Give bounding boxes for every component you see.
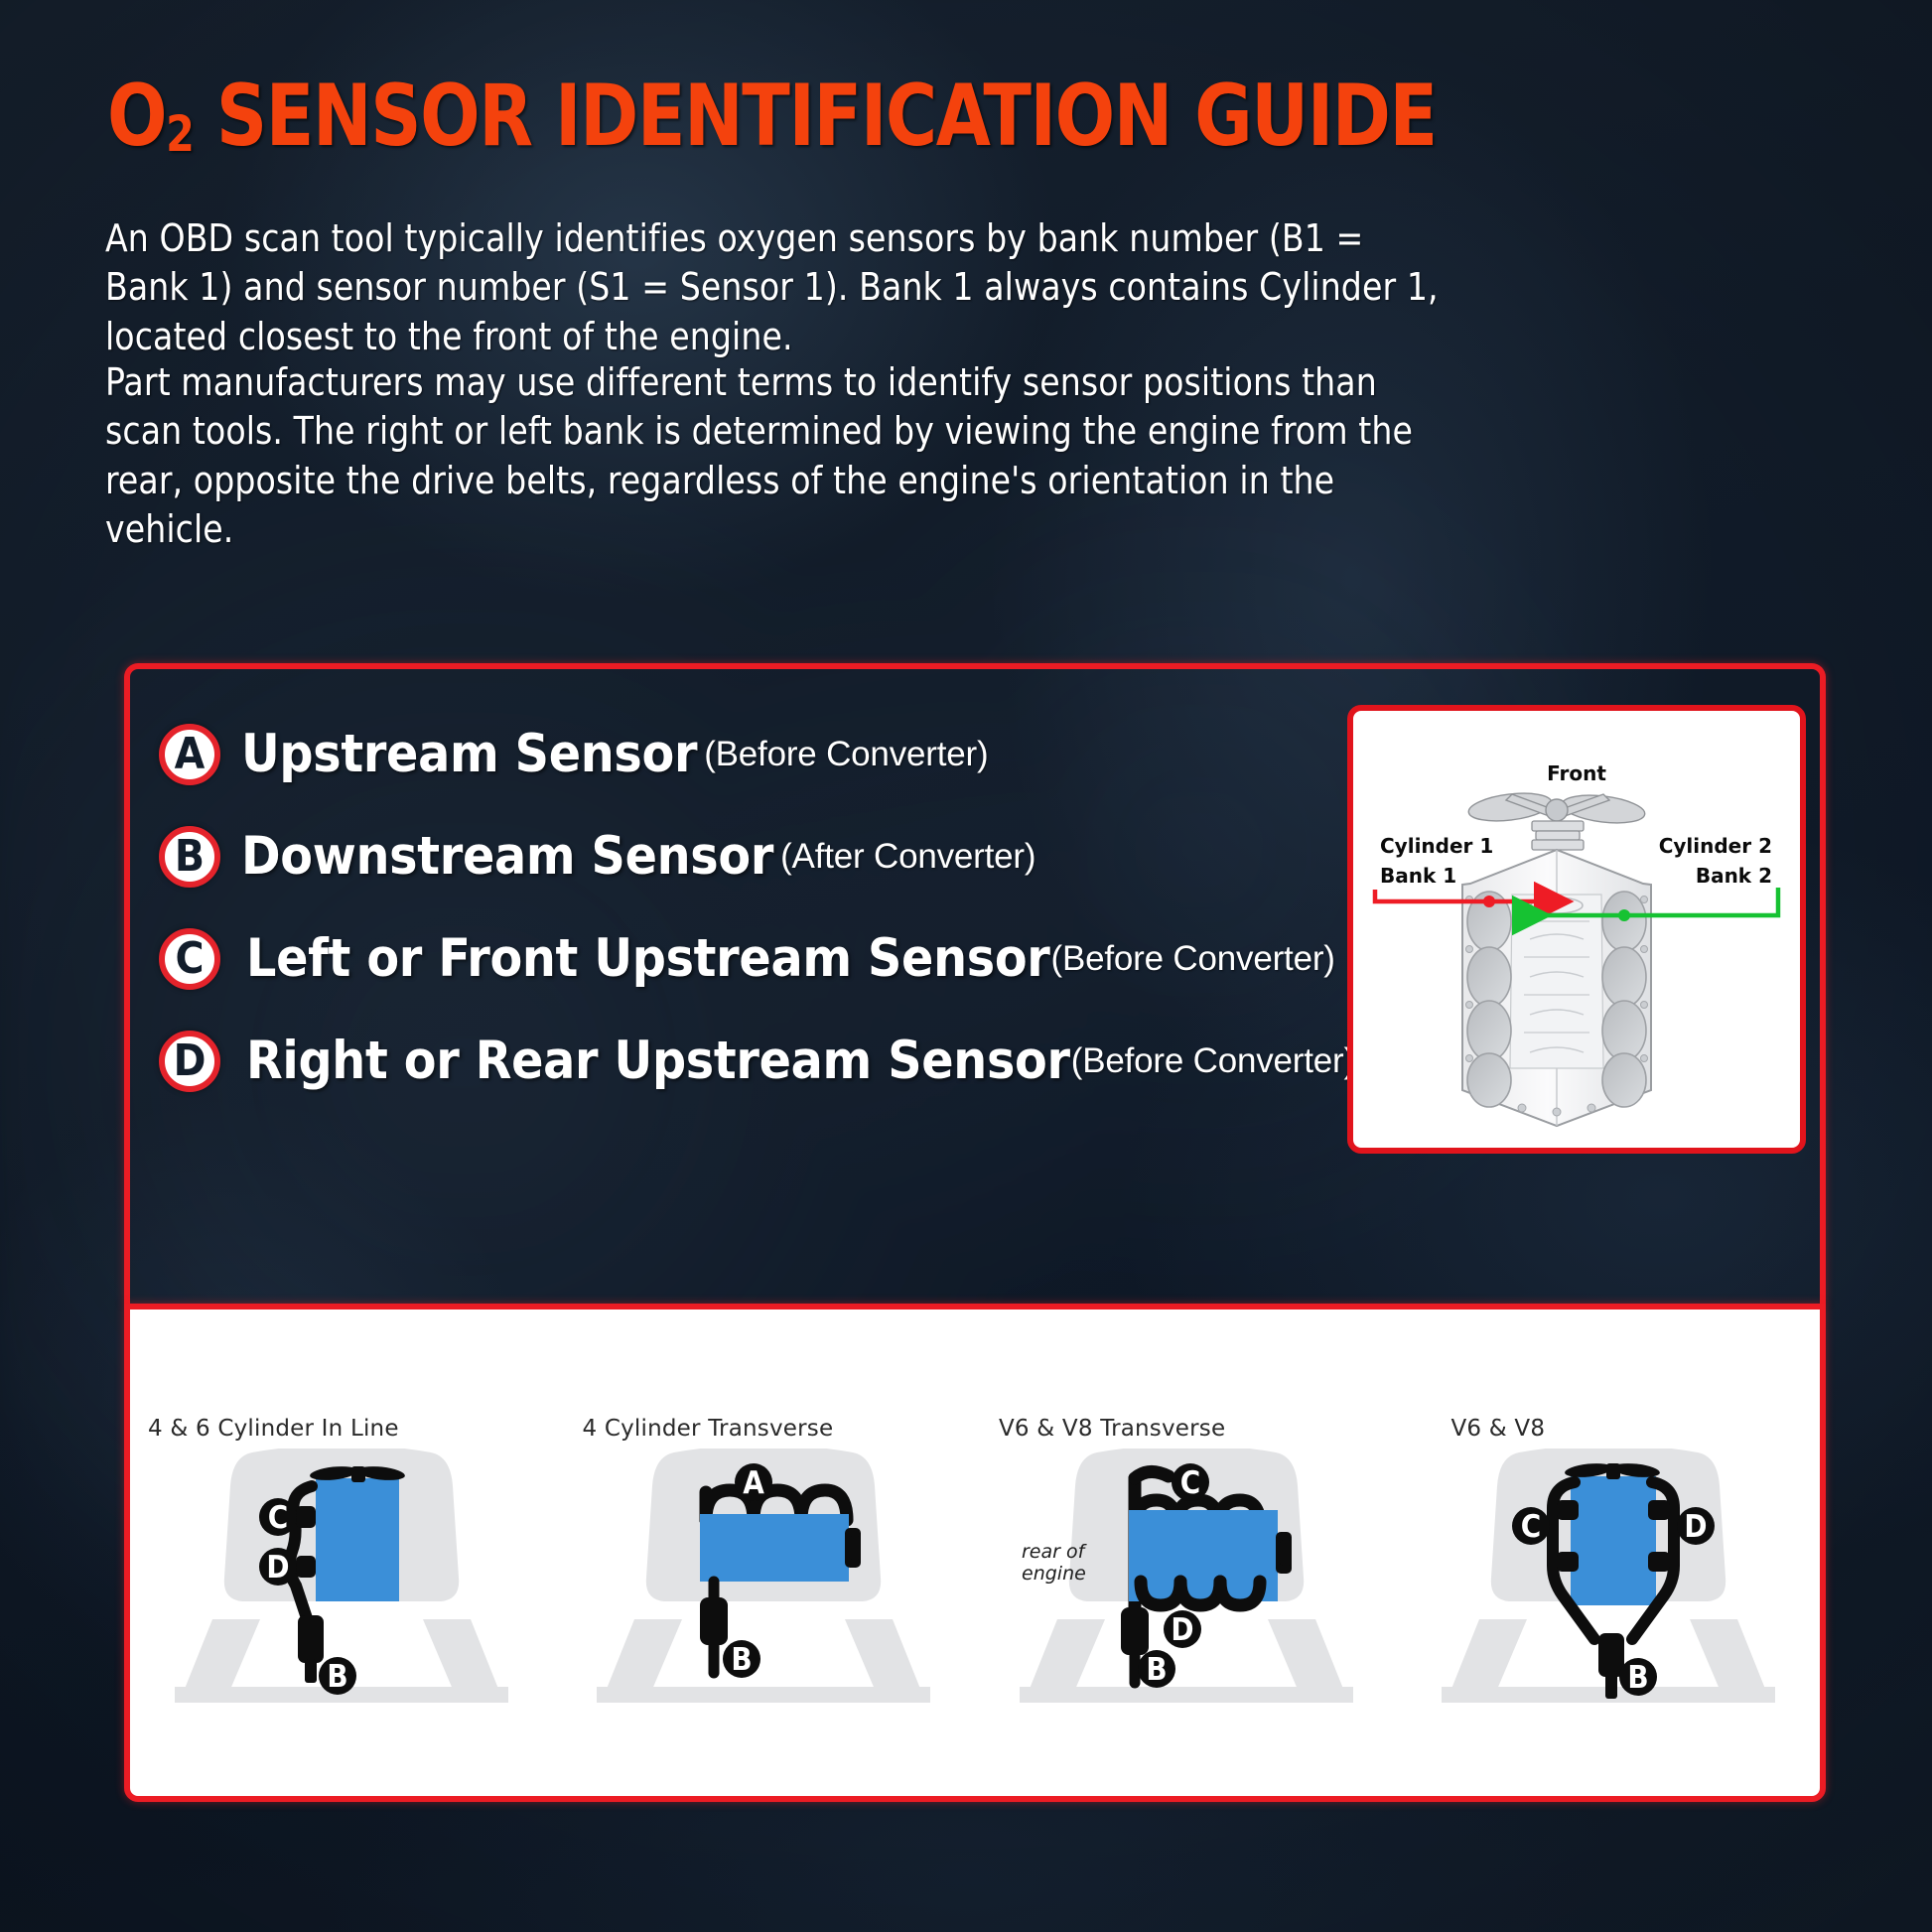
diagram-inline-4-6[interactable]: 4 & 6 Cylinder In Line [130,1310,553,1796]
page-title: O2 SENSOR IDENTIFICATION GUIDE [107,73,1437,159]
legend-note-c: (Before Converter) [1051,939,1335,979]
sensor-legend-list: A Upstream Sensor (Before Converter) B D… [145,703,1267,1112]
engine-bank2-label: Bank 2 [1696,864,1772,888]
diagram-title-transverse-4: 4 Cylinder Transverse [583,1416,834,1442]
engine-cylinder1-label: Cylinder 1 [1380,834,1493,858]
transmission [1276,1532,1292,1574]
svg-text:C: C [268,1500,288,1536]
diagram-illustration-longitudinal-v6-v8: C D B [1424,1449,1793,1707]
rear-of-engine-note-line2: engine [1022,1563,1086,1585]
svg-text:B: B [1146,1652,1167,1688]
engine-block [1462,850,1651,1126]
engine-bank-illustration: Front Cylinder 1 Bank 1 Cylinder 2 Bank … [1353,711,1800,1148]
rear-of-engine-note-line1: rear of [1022,1541,1088,1563]
legend-label-d: Right or Rear Upstream Sensor [246,1031,1070,1091]
engine-pulley [1532,821,1584,850]
engine-bank1-label: Bank 1 [1380,864,1456,888]
svg-text:D: D [266,1550,289,1586]
legend-item-c[interactable]: C Left or Front Upstream Sensor (Before … [145,907,1267,1010]
legend-badge-b: B [159,826,220,888]
legend-note-a: (Before Converter) [704,735,988,774]
transmission [845,1528,861,1568]
legend-note-b: (After Converter) [780,837,1035,877]
svg-text:B: B [327,1659,347,1695]
engine-block-blue [1571,1476,1656,1605]
legend-label-c: Left or Front Upstream Sensor [246,928,1050,989]
bank1-cylinders [1467,892,1511,1107]
diagram-transverse-4[interactable]: 4 Cylinder Transverse [553,1310,976,1796]
legend-badge-c: C [159,928,220,990]
intro-paragraph-1: An OBD scan tool typically identifies ox… [105,214,1444,361]
legend-badge-d: D [159,1031,220,1092]
legend-item-b[interactable]: B Downstream Sensor (After Converter) [145,805,1267,907]
svg-text:C: C [1521,1509,1541,1545]
diagram-title-inline-4-6: 4 & 6 Cylinder In Line [148,1416,399,1442]
diagram-illustration-transverse-4: A B [579,1449,948,1707]
svg-text:A: A [743,1465,764,1501]
title-subscript: 2 [166,105,193,163]
engine-block-blue [700,1514,849,1582]
svg-text:B: B [1628,1660,1649,1696]
bank2-cylinders [1602,892,1646,1107]
diagram-illustration-transverse-v6-v8: rear of engine C D B [1002,1449,1371,1707]
legend-note-d: (Before Converter) [1071,1041,1355,1081]
svg-text:D: D [1685,1509,1708,1545]
diagram-longitudinal-v6-v8[interactable]: V6 & V8 [1398,1310,1821,1796]
legend-badge-a: A [159,724,220,785]
sensor-legend-panel: A Upstream Sensor (Before Converter) B D… [124,663,1826,1304]
legend-label-b: Downstream Sensor [241,826,773,887]
engine-cylinder2-label: Cylinder 2 [1659,834,1772,858]
legend-label-a: Upstream Sensor [241,724,697,784]
title-rest: SENSOR IDENTIFICATION GUIDE [193,67,1436,166]
svg-text:B: B [732,1642,753,1678]
diagram-illustration-inline-4-6: C D B [157,1449,526,1707]
engine-layout-diagrams-panel: 4 & 6 Cylinder In Line [124,1304,1826,1802]
engine-block-blue [316,1478,399,1601]
svg-text:C: C [1180,1465,1200,1501]
legend-item-d[interactable]: D Right or Rear Upstream Sensor (Before … [145,1010,1267,1112]
legend-item-a[interactable]: A Upstream Sensor (Before Converter) [145,703,1267,805]
infographic-page: O2 SENSOR IDENTIFICATION GUIDE An OBD sc… [0,0,1932,1932]
engine-bank-diagram-card: Front Cylinder 1 Bank 1 Cylinder 2 Bank … [1347,705,1806,1154]
svg-text:D: D [1171,1612,1193,1648]
diagram-title-transverse-v6-v8: V6 & V8 Transverse [999,1416,1225,1442]
diagram-transverse-v6-v8[interactable]: V6 & V8 Transverse [975,1310,1398,1796]
diagram-title-longitudinal-v6-v8: V6 & V8 [1451,1416,1546,1442]
intro-paragraph-2: Part manufacturers may use different ter… [105,358,1444,555]
title-prefix: O [107,67,166,166]
engine-front-label: Front [1547,761,1606,785]
